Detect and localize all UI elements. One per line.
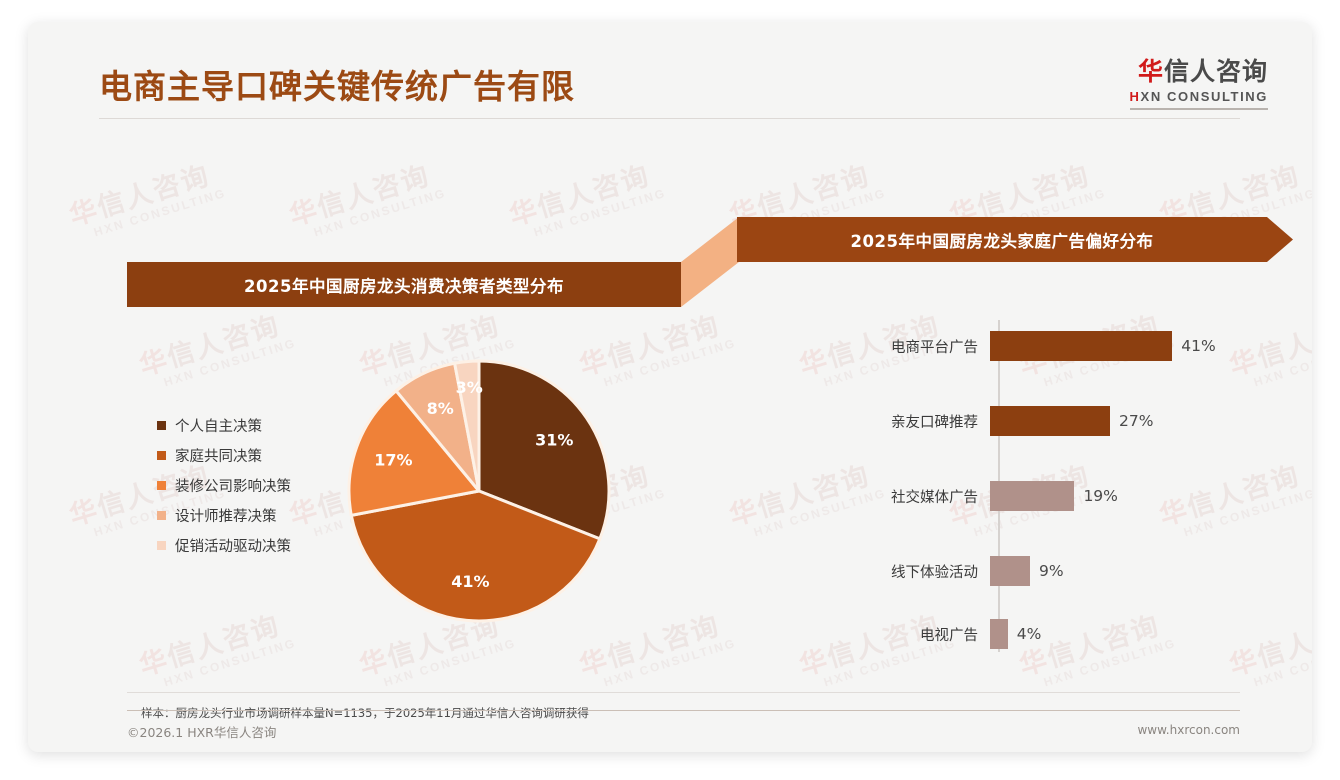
pie-legend-item[interactable]: 家庭共同决策 [157, 440, 291, 470]
slide-header: 电商主导口碑关键传统广告有限 华信人咨询 HXN CONSULTING [28, 22, 1312, 130]
bar-track: 27% [990, 404, 1278, 438]
footer-copyright: ©2026.1 HXR华信人咨询 [127, 722, 276, 741]
company-logo: 华信人咨询 HXN CONSULTING [1130, 58, 1268, 110]
logo-chinese-rest: 信人咨询 [1164, 57, 1268, 86]
bar-track: 4% [990, 617, 1278, 651]
bar-category-label: 电视广告 [818, 624, 990, 645]
legend-label: 促销活动驱动决策 [175, 535, 291, 556]
watermark: 华信人咨询HXN CONSULTING [284, 150, 448, 244]
legend-label: 设计师推荐决策 [175, 505, 277, 526]
bar-fill[interactable] [990, 481, 1074, 511]
bar-fill[interactable] [990, 619, 1008, 649]
header-divider [99, 118, 1240, 119]
bar-category-label: 线下体验活动 [818, 561, 990, 582]
pie-slice-label: 3% [456, 378, 483, 397]
bar-track: 9% [990, 554, 1278, 588]
bar-value-label: 41% [1181, 337, 1215, 355]
banner-left-label: 2025年中国厨房龙头消费决策者类型分布 [244, 273, 564, 297]
pie-legend-item[interactable]: 装修公司影响决策 [157, 470, 291, 500]
banner-right: 2025年中国厨房龙头家庭广告偏好分布 [737, 217, 1293, 262]
pie-slice-label: 8% [427, 399, 454, 418]
footnote-divider [127, 692, 1240, 693]
bar-chart-row[interactable]: 亲友口碑推荐27% [818, 404, 1278, 438]
legend-color-swatch [157, 451, 166, 460]
legend-color-swatch [157, 541, 166, 550]
bar-fill[interactable] [990, 556, 1030, 586]
watermark: 华信人咨询HXN CONSULTING [64, 150, 228, 244]
banner-connector-arrow [681, 217, 739, 307]
footer-divider [127, 710, 1240, 711]
bar-fill[interactable] [990, 406, 1110, 436]
bar-chart-row[interactable]: 电视广告4% [818, 617, 1278, 651]
pie-legend: 个人自主决策家庭共同决策装修公司影响决策设计师推荐决策促销活动驱动决策 [157, 410, 291, 560]
logo-chinese: 华信人咨询 [1130, 58, 1268, 86]
bar-chart-panel: 电商平台广告41%亲友口碑推荐27%社交媒体广告19%线下体验活动9%电视广告4… [818, 312, 1278, 662]
pie-slice-label: 17% [374, 451, 412, 470]
logo-chinese-red: 华 [1138, 57, 1164, 86]
legend-color-swatch [157, 421, 166, 430]
bar-category-label: 社交媒体广告 [818, 486, 990, 507]
watermark: 华信人咨询HXN CONSULTING [504, 150, 668, 244]
banner-left: 2025年中国厨房龙头消费决策者类型分布 [127, 262, 681, 307]
legend-color-swatch [157, 511, 166, 520]
slide-canvas: 华信人咨询HXN CONSULTING华信人咨询HXN CONSULTING华信… [28, 22, 1312, 752]
pie-slice-label: 41% [451, 572, 489, 591]
pie-legend-item[interactable]: 个人自主决策 [157, 410, 291, 440]
bar-chart-row[interactable]: 线下体验活动9% [818, 554, 1278, 588]
bar-value-label: 19% [1083, 487, 1117, 505]
legend-label: 家庭共同决策 [175, 445, 262, 466]
pie-chart-panel: 个人自主决策家庭共同决策装修公司影响决策设计师推荐决策促销活动驱动决策 31%4… [127, 342, 687, 662]
bar-value-label: 4% [1017, 625, 1042, 643]
bar-track: 41% [990, 329, 1278, 363]
bar-chart-row[interactable]: 电商平台广告41% [818, 329, 1278, 363]
bar-category-label: 电商平台广告 [818, 336, 990, 357]
legend-color-swatch [157, 481, 166, 490]
logo-english: HXN CONSULTING [1130, 89, 1268, 104]
banner-right-label: 2025年中国厨房龙头家庭广告偏好分布 [737, 217, 1293, 262]
page-title: 电商主导口碑关键传统广告有限 [99, 60, 575, 108]
legend-label: 个人自主决策 [175, 415, 262, 436]
slide-footer: ©2026.1 HXR华信人咨询 www.hxrcon.com [28, 710, 1312, 752]
bar-category-label: 亲友口碑推荐 [818, 411, 990, 432]
pie-chart: 31%41%17%8%3% [345, 357, 613, 625]
bar-track: 19% [990, 479, 1278, 513]
bar-chart-row[interactable]: 社交媒体广告19% [818, 479, 1278, 513]
logo-english-rest: XN CONSULTING [1141, 89, 1268, 104]
bar-value-label: 9% [1039, 562, 1064, 580]
pie-slice-label: 31% [535, 430, 573, 449]
pie-chart-svg: 31%41%17%8%3% [345, 357, 613, 625]
logo-english-red: H [1130, 89, 1141, 104]
bar-value-label: 27% [1119, 412, 1153, 430]
connector-shape [681, 217, 739, 307]
bar-fill[interactable] [990, 331, 1172, 361]
logo-underline [1130, 108, 1268, 110]
legend-label: 装修公司影响决策 [175, 475, 291, 496]
pie-legend-item[interactable]: 设计师推荐决策 [157, 500, 291, 530]
footer-website[interactable]: www.hxrcon.com [1137, 723, 1240, 737]
pie-legend-item[interactable]: 促销活动驱动决策 [157, 530, 291, 560]
